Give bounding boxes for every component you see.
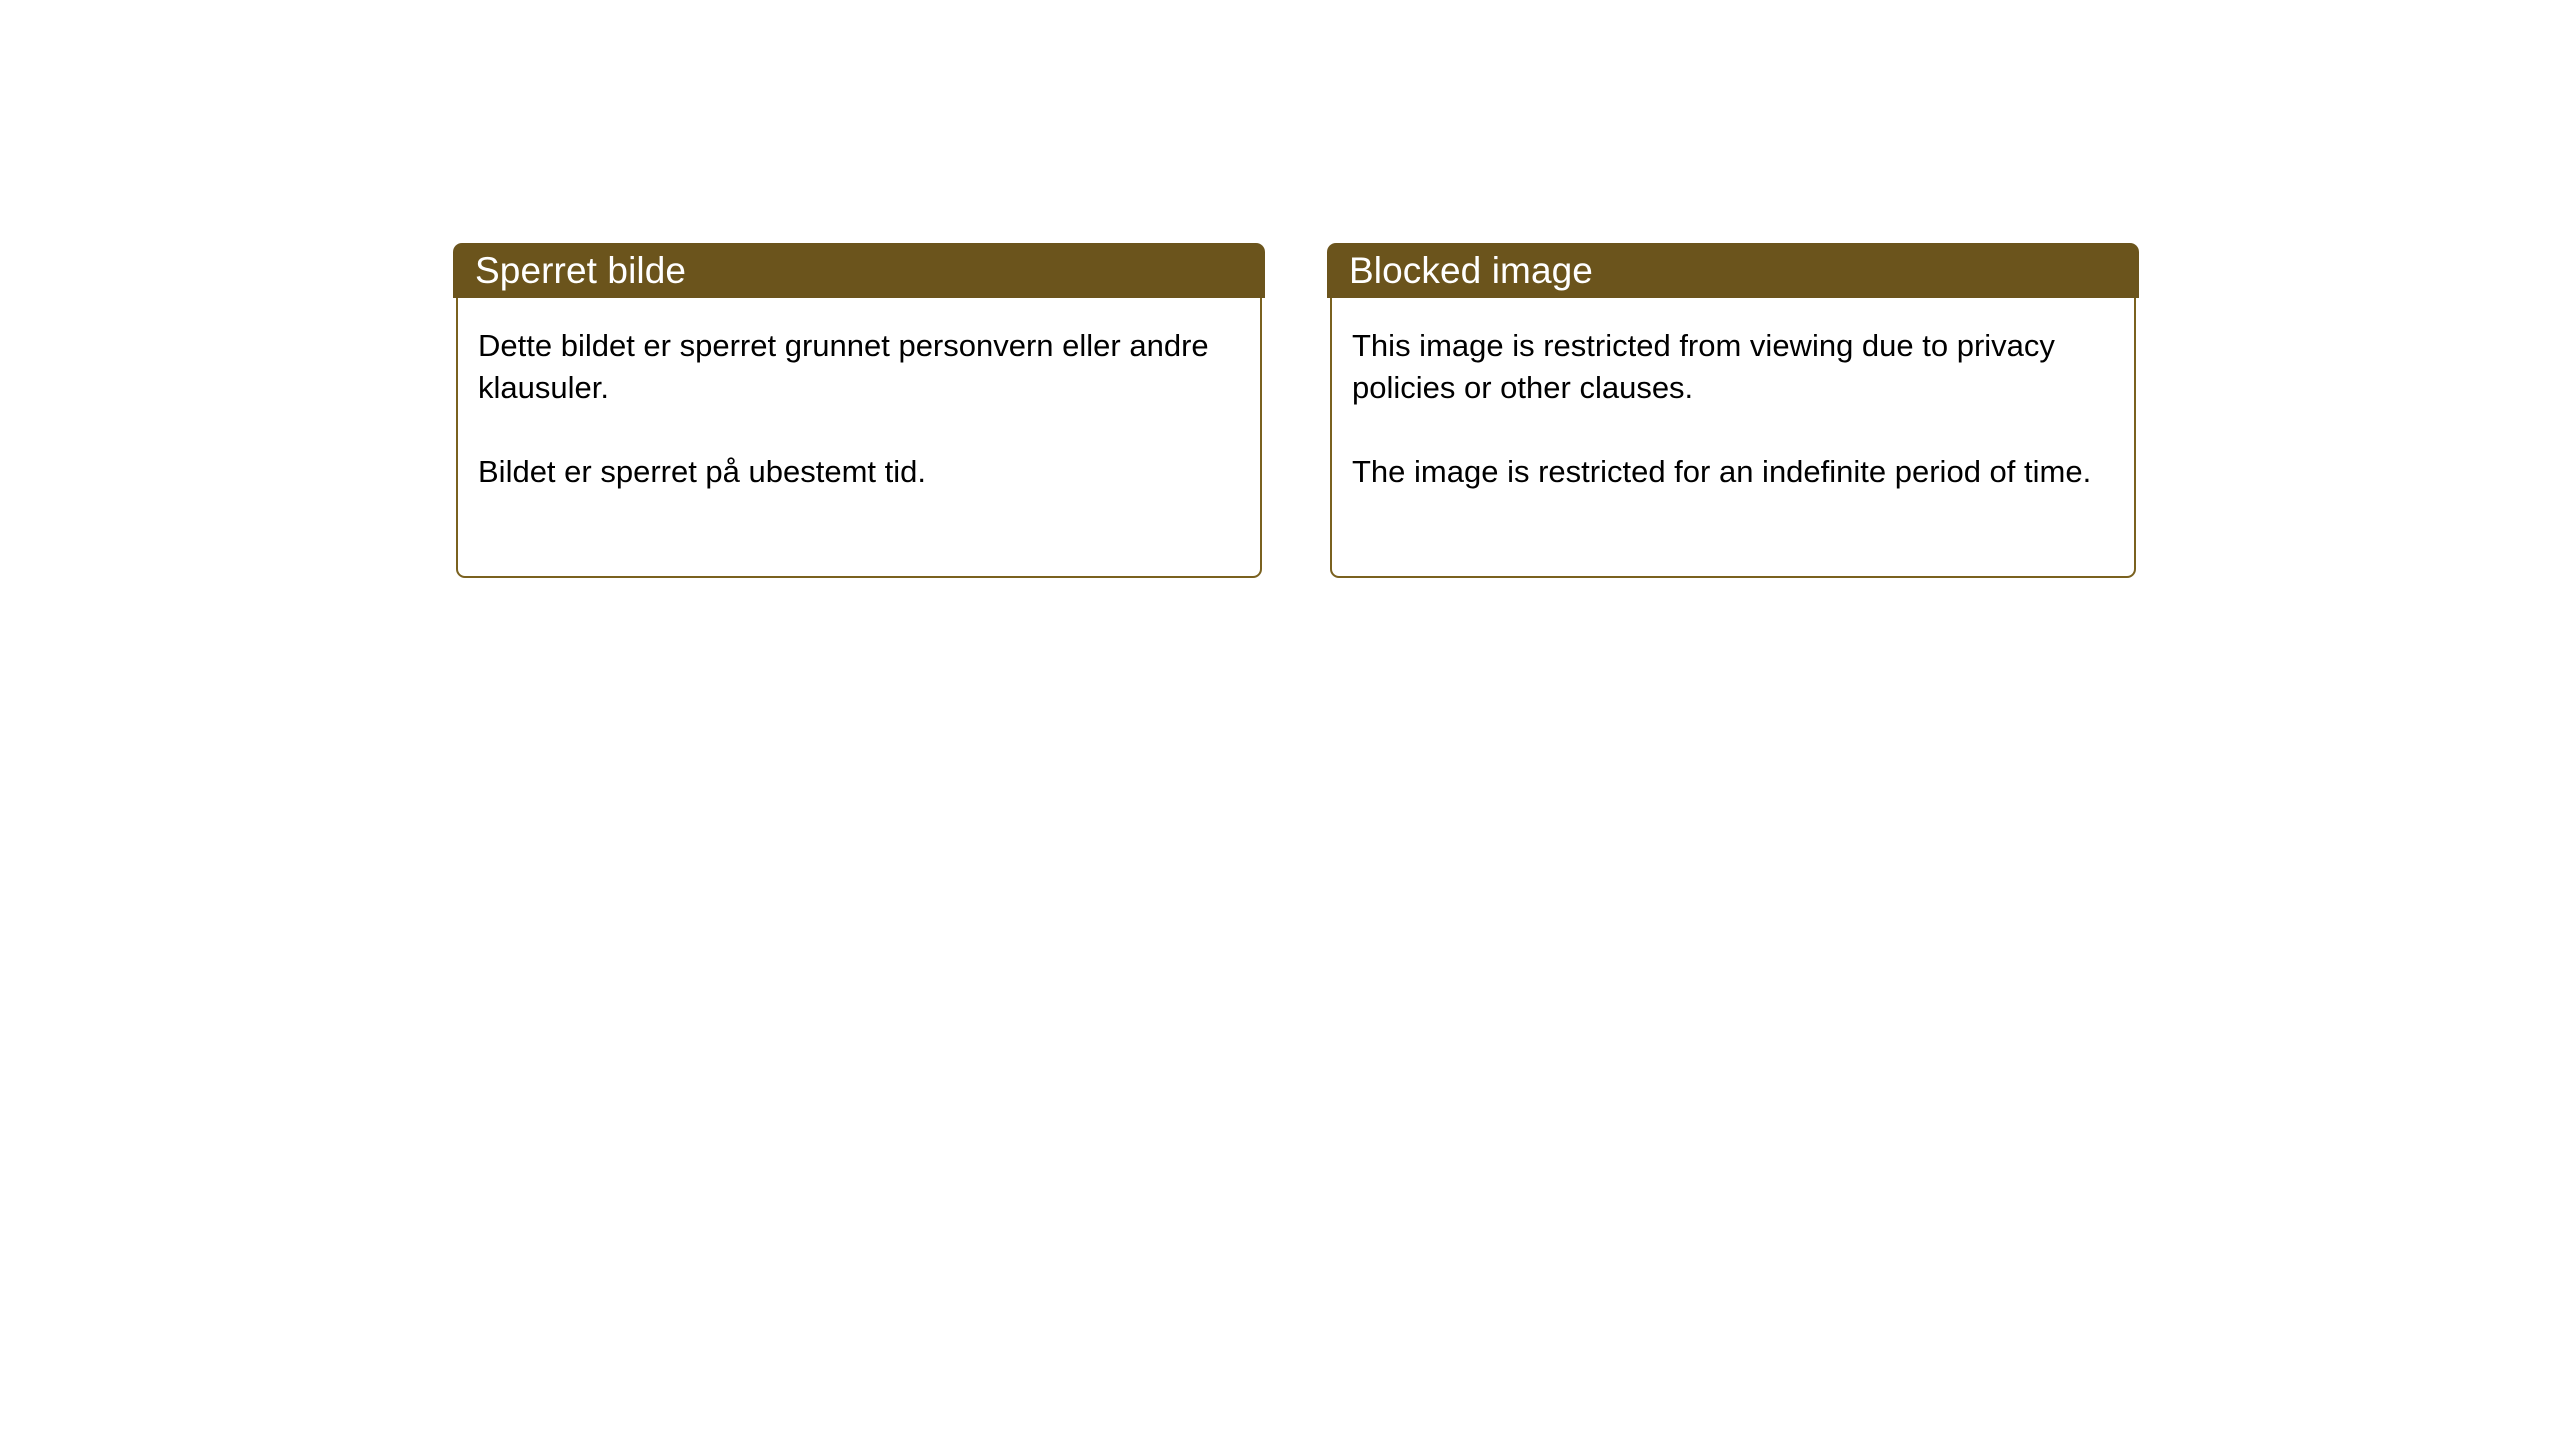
blocked-image-notice-norwegian: Dette bildet er sperret grunnet personve…	[453, 243, 1265, 578]
notice-header-english: Blocked image	[1327, 243, 2139, 298]
notice-body-english: This image is restricted from viewing du…	[1330, 271, 2136, 578]
notice-paragraph-primary-english: This image is restricted from viewing du…	[1352, 325, 2114, 409]
notice-title-english: Blocked image	[1349, 251, 1593, 291]
notice-body-norwegian: Dette bildet er sperret grunnet personve…	[456, 271, 1262, 578]
notice-paragraph-secondary-norwegian: Bildet er sperret på ubestemt tid.	[478, 451, 1240, 493]
page-canvas: Dette bildet er sperret grunnet personve…	[0, 0, 2560, 1440]
notice-paragraph-primary-norwegian: Dette bildet er sperret grunnet personve…	[478, 325, 1240, 409]
blocked-image-notice-english: This image is restricted from viewing du…	[1327, 243, 2139, 578]
notice-title-norwegian: Sperret bilde	[475, 251, 686, 291]
notice-header-norwegian: Sperret bilde	[453, 243, 1265, 298]
notice-paragraph-secondary-english: The image is restricted for an indefinit…	[1352, 451, 2114, 493]
